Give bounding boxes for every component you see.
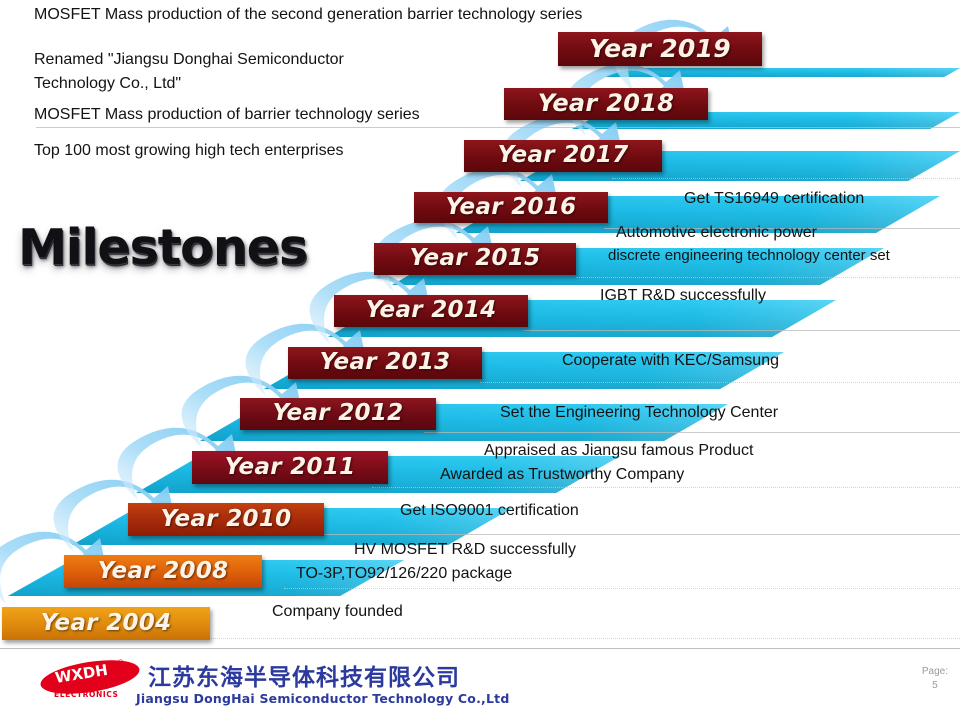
year-plate-2011[interactable]: Year 2011	[192, 451, 388, 484]
milestone-description-2019-line1: Renamed "Jiangsu Donghai Semiconductor	[34, 49, 344, 70]
milestone-description-2011-line1: Appraised as Jiangsu famous Product	[484, 440, 753, 461]
separator-rule	[372, 487, 960, 488]
milestone-description-2014: IGBT R&D successfully	[600, 285, 766, 306]
year-plate-label: Year 2017	[498, 142, 629, 168]
separator-rule	[206, 638, 960, 639]
page-number-value: 5	[922, 679, 948, 693]
year-plate-label: Year 2010	[161, 506, 292, 532]
year-plate-2012[interactable]: Year 2012	[240, 398, 436, 430]
year-plate-label: Year 2008	[98, 558, 229, 584]
page-title: Milestones	[18, 219, 307, 276]
company-name-en: Jiangsu DongHai Semiconductor Technology…	[136, 691, 509, 706]
year-plate-2018[interactable]: Year 2018	[504, 88, 708, 120]
page-number-label: Page:	[922, 665, 948, 679]
year-plate-2016[interactable]: Year 2016	[414, 192, 608, 223]
page-number: Page: 5	[922, 665, 948, 692]
year-plate-2019[interactable]: Year 2019	[558, 32, 762, 66]
year-plate-label: Year 2012	[273, 400, 404, 426]
year-plate-label: Year 2011	[225, 454, 356, 480]
milestone-description-2004: Company founded	[272, 601, 403, 622]
separator-rule	[524, 330, 960, 331]
year-plate-label: Year 2019	[589, 34, 731, 63]
year-plate-label: Year 2014	[366, 297, 497, 323]
milestone-description-2015-line2: discrete engineering technology center s…	[608, 246, 890, 266]
separator-rule	[424, 432, 960, 433]
milestone-description-2017: Top 100 most growing high tech enterpris…	[34, 140, 344, 161]
year-plate-label: Year 2018	[538, 89, 674, 117]
year-plate-label: Year 2015	[410, 245, 541, 271]
separator-rule	[612, 178, 960, 179]
year-plate-2004[interactable]: Year 2004	[2, 607, 210, 640]
year-plate-2010[interactable]: Year 2010	[128, 503, 324, 536]
slide-canvas: Milestones Year 2019 Year 2018 Year 2017…	[0, 0, 960, 720]
milestone-description-2018: MOSFET Mass production of barrier techno…	[34, 104, 420, 125]
milestone-description-2011-line2: Awarded as Trustworthy Company	[440, 464, 684, 485]
separator-rule	[576, 277, 960, 278]
separator-rule	[36, 127, 960, 128]
separator-rule	[320, 534, 960, 535]
svg-text:®: ®	[116, 659, 125, 669]
company-name-cn: 江苏东海半导体科技有限公司	[148, 658, 460, 692]
milestone-description-top: MOSFET Mass production of the second gen…	[34, 4, 582, 25]
year-plate-2013[interactable]: Year 2013	[288, 347, 482, 379]
milestone-description-2008-line1: HV MOSFET R&D successfully	[354, 539, 576, 560]
separator-rule	[284, 588, 960, 589]
slide-footer: WXDH ® ELECTRONICS 江苏东海半导体科技有限公司 Jiangsu…	[0, 648, 960, 720]
milestone-description-2016: Get TS16949 certification	[684, 188, 864, 209]
milestone-description-2015-line1: Automotive electronic power	[616, 222, 817, 243]
year-plate-2015[interactable]: Year 2015	[374, 243, 576, 275]
year-plate-label: Year 2004	[41, 610, 172, 636]
milestone-description-2010: Get ISO9001 certification	[400, 500, 579, 521]
milestone-description-2013: Cooperate with KEC/Samsung	[562, 350, 779, 371]
milestone-description-2012: Set the Engineering Technology Center	[500, 402, 778, 423]
year-plate-2008[interactable]: Year 2008	[64, 555, 262, 588]
year-plate-2017[interactable]: Year 2017	[464, 140, 662, 172]
separator-rule	[480, 382, 960, 383]
milestone-description-2019-line2: Technology Co., Ltd"	[34, 73, 181, 94]
footer-divider	[0, 648, 960, 649]
milestone-description-2008-line2: TO-3P,TO92/126/220 package	[296, 563, 512, 584]
year-plate-label: Year 2016	[446, 194, 577, 220]
year-plate-2014[interactable]: Year 2014	[334, 295, 528, 327]
year-plate-label: Year 2013	[320, 349, 451, 375]
svg-text:ELECTRONICS: ELECTRONICS	[54, 690, 119, 699]
